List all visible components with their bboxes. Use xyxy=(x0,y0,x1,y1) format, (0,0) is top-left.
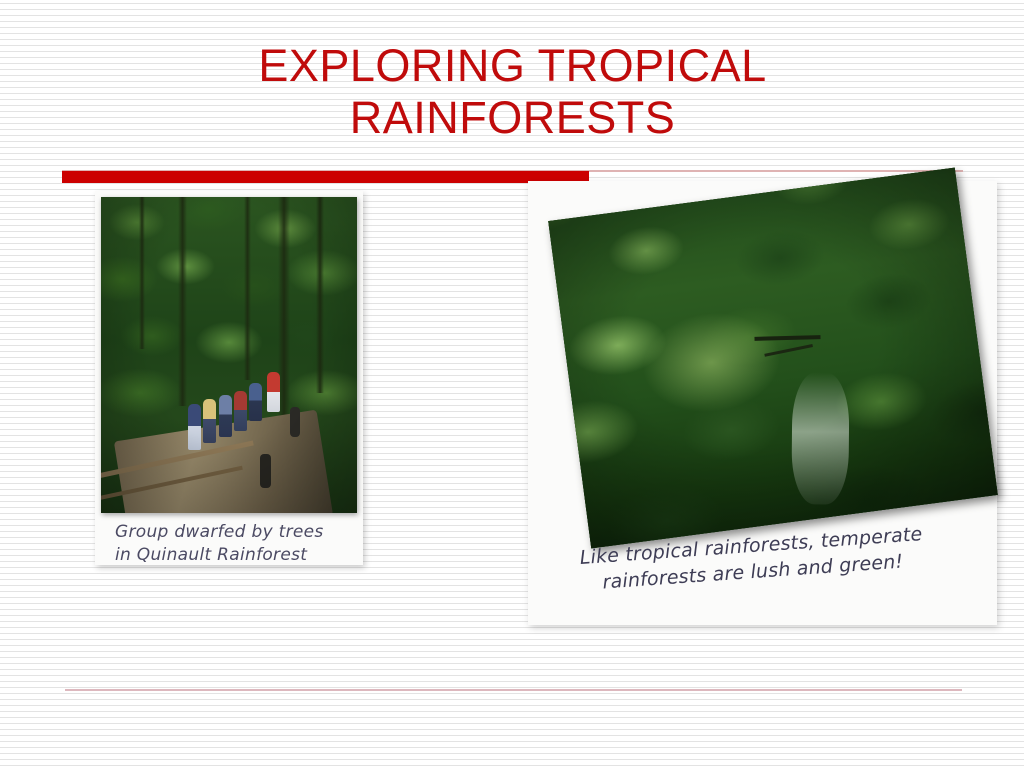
figure-caption-left: Group dwarfed by trees in Quinault Rainf… xyxy=(115,521,351,567)
slide-canvas: EXPLORING TROPICAL RAINFORESTS xyxy=(0,0,1024,767)
photo-vignette xyxy=(101,197,357,513)
photo-vignette xyxy=(548,168,998,549)
footer-rule xyxy=(65,689,962,691)
figure-card-left: Group dwarfed by trees in Quinault Rainf… xyxy=(95,191,363,565)
divider-thick-bar xyxy=(62,171,589,183)
title-line-2: RAINFORESTS xyxy=(60,92,965,144)
page-title: EXPLORING TROPICAL RAINFORESTS xyxy=(60,40,965,144)
caption-line: Group dwarfed by trees xyxy=(115,521,351,544)
photo-lush-stream xyxy=(548,168,998,549)
photo-group-boardwalk xyxy=(101,197,357,513)
figure-card-right: Like tropical rainforests, temperate rai… xyxy=(528,181,997,625)
title-line-1: EXPLORING TROPICAL xyxy=(60,40,965,92)
caption-line: in Quinault Rainforest xyxy=(115,544,351,567)
